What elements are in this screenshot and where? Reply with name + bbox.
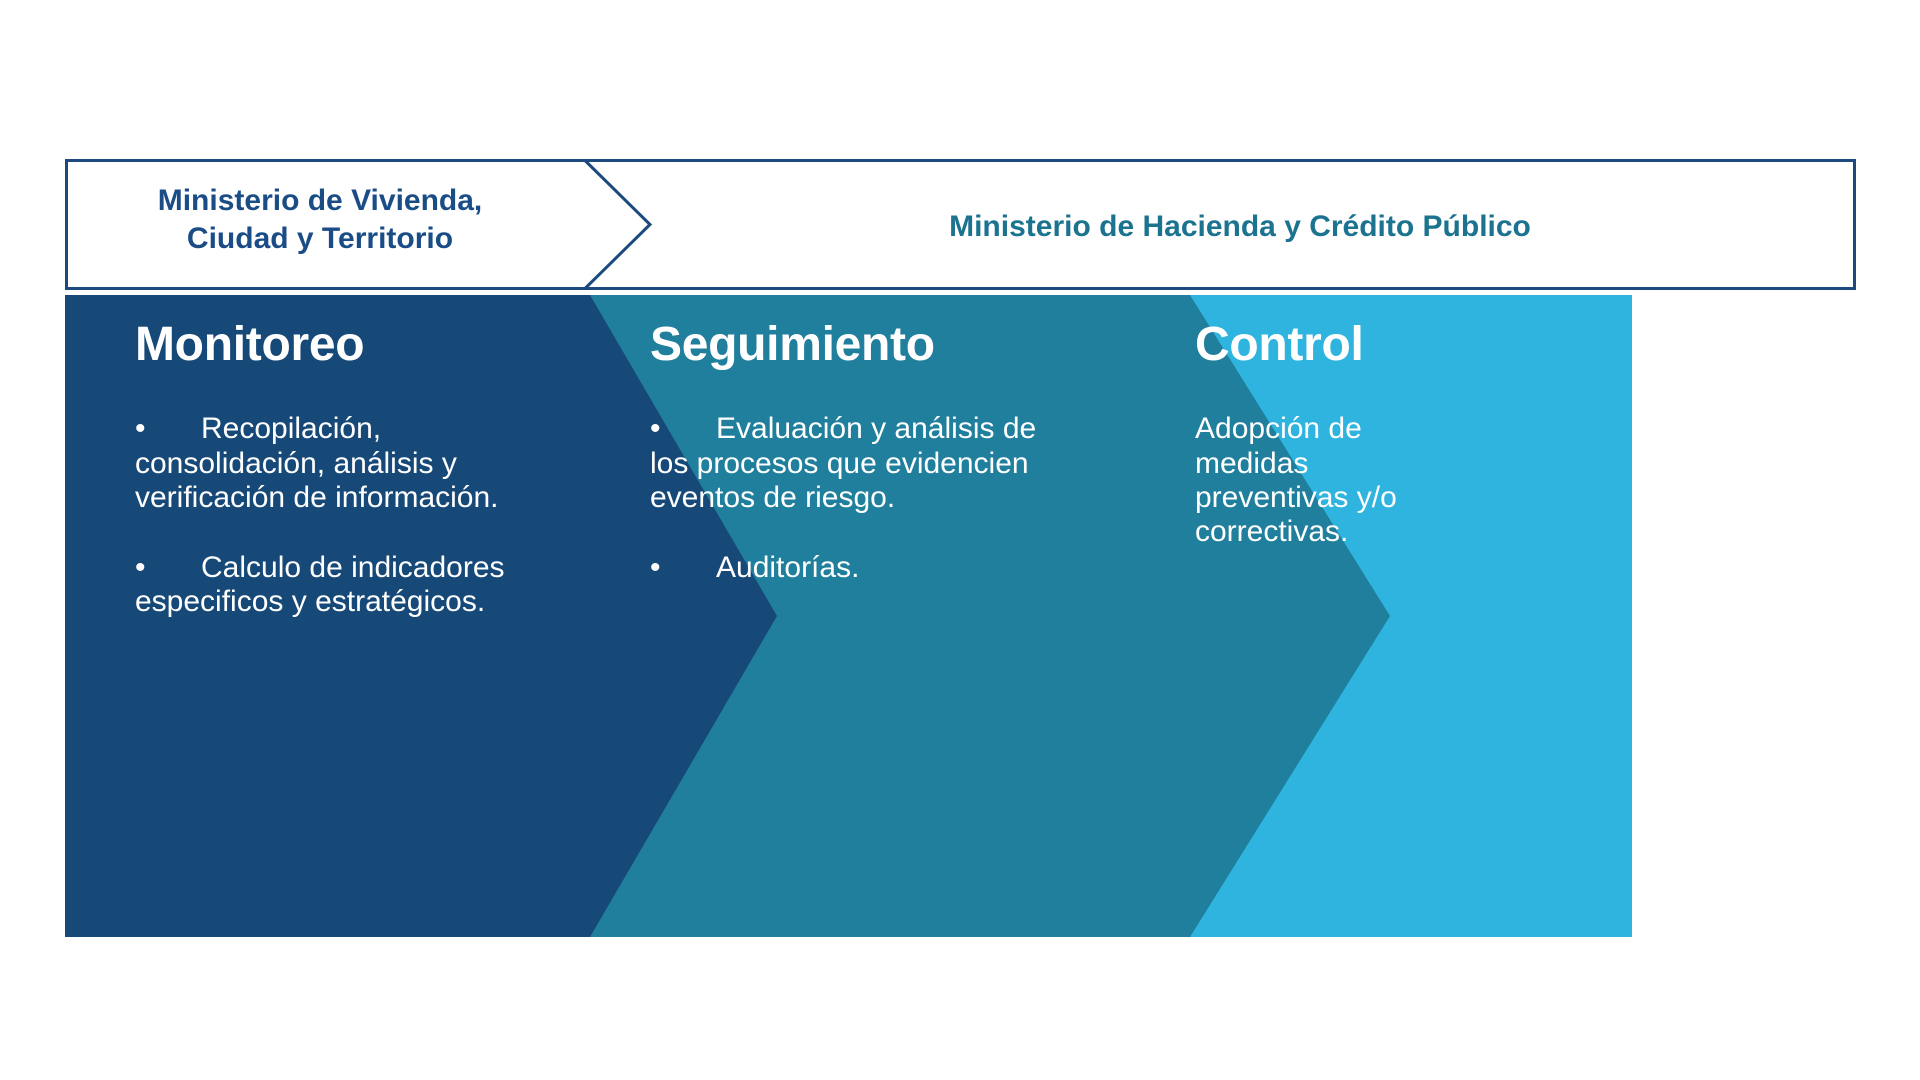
bullet-dot-icon: • [650,551,664,585]
list-item: •Evaluación y análisis de los procesos q… [650,412,1050,515]
list-item: Adopción de medidas preventivas y/o corr… [1195,412,1460,549]
header-right-entity-label: Ministerio de Hacienda y Crédito Público [680,208,1800,246]
stage-1-title: Monitoreo [135,320,535,370]
stage-3-content: Control Adopción de medidas preventivas … [1195,320,1495,549]
list-item: •Calculo de indicadores especificos y es… [135,551,520,619]
stage-3-title: Control [1195,320,1495,370]
bullet-dot-icon: • [135,551,149,585]
stage-2-bullet-1-text: Evaluación y análisis de los procesos qu… [650,412,1036,513]
stage-3-bullet-1-text: Adopción de medidas preventivas y/o corr… [1195,412,1397,548]
slide-canvas: Ministerio de Vivienda, Ciudad y Territo… [0,0,1920,1080]
stage-2-title: Seguimiento [650,320,1070,370]
stage-1-content: Monitoreo •Recopilación, consolidación, … [135,320,535,619]
stage-2-content: Seguimiento •Evaluación y análisis de lo… [650,320,1070,585]
stage-1-bullet-1-text: Recopilación, consolidación, análisis y … [135,412,499,513]
stage-1-bullet-list: •Recopilación, consolidación, análisis y… [135,412,520,619]
list-item: •Auditorías. [650,551,1050,585]
bullet-dot-icon: • [650,412,664,446]
stage-2-bullet-2-text: Auditorías. [716,551,859,584]
header-left-entity-label: Ministerio de Vivienda, Ciudad y Territo… [80,182,560,259]
stage-2-bullet-list: •Evaluación y análisis de los procesos q… [650,412,1050,585]
stage-1-bullet-2-text: Calculo de indicadores especificos y est… [135,551,505,618]
stage-3-bullet-list: Adopción de medidas preventivas y/o corr… [1195,412,1460,549]
bullet-dot-icon: • [135,412,149,446]
list-item: •Recopilación, consolidación, análisis y… [135,412,520,515]
